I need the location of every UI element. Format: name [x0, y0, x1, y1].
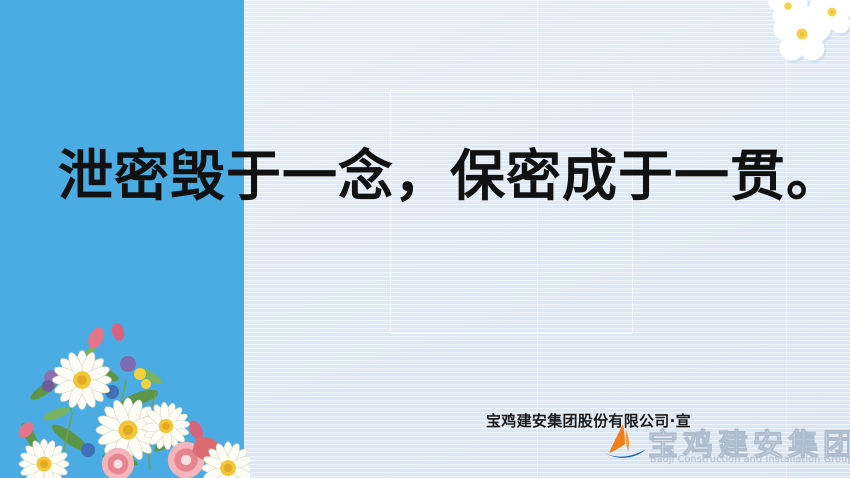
left-blue-panel: [0, 0, 244, 478]
decorative-square-frame: [390, 90, 633, 334]
company-credit-text: 宝鸡建安集团股份有限公司·宣: [486, 410, 691, 431]
page-title: 泄密毁于一念，保密成于一贯。: [58, 148, 850, 206]
slide-canvas: 泄密毁于一念，保密成于一贯。 宝鸡建安集团股份有限公司·宣 宝鸡建安集团 Bao…: [0, 0, 850, 478]
white-blossom-icon: [730, 0, 850, 90]
logo-english-name: Baoji Construction and Installation Grou…: [650, 454, 850, 465]
